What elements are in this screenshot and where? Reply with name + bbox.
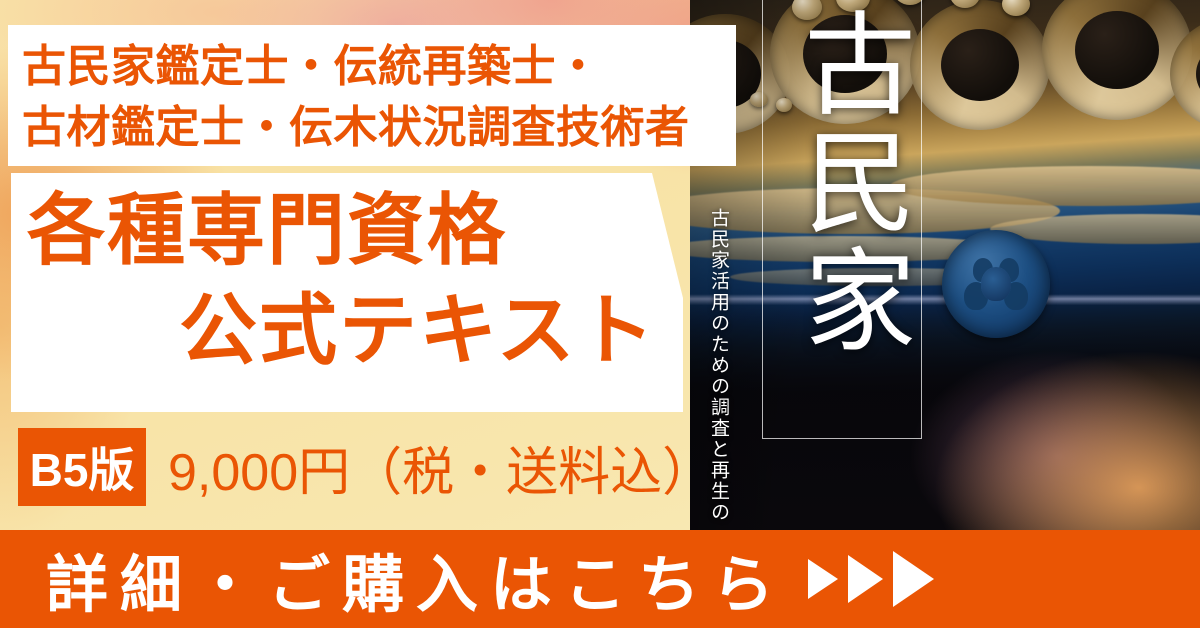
qualifications-box: 古民家鑑定士・伝統再築士・ 古材鑑定士・伝木状況調査技術者	[8, 25, 736, 166]
triangle-right-icon	[808, 559, 838, 599]
triangle-right-icon	[848, 555, 883, 603]
headline-line-1: 各種専門資格	[11, 173, 683, 269]
promo-banner: 古民家 伝統構法 古民家活用のための調査と再生の 古民家鑑定士・伝統再築士・ 古…	[0, 0, 1200, 628]
qualifications-line-2: 古材鑑定士・伝木状況調査技術者	[8, 98, 736, 159]
triangle-right-icon	[893, 551, 934, 607]
cta-bar[interactable]: 詳細・ご購入はこちら	[0, 530, 1200, 628]
qualifications-line-1: 古民家鑑定士・伝統再築士・	[8, 25, 736, 98]
headline-line-2: 公式テキスト	[11, 269, 683, 369]
cta-label: 詳細・ご購入はこちら	[0, 534, 786, 624]
cover-photo-texture: 古民家 伝統構法 古民家活用のための調査と再生の	[690, 0, 1200, 530]
book-cover-image: 古民家 伝統構法 古民家活用のための調査と再生の	[690, 0, 1200, 530]
cover-title-vertical: 古民家	[762, 6, 920, 360]
price-row: B5版 9,000円（税・送料込）	[18, 428, 714, 506]
headline-box: 各種専門資格 公式テキスト	[11, 173, 683, 412]
cta-arrows	[786, 551, 934, 607]
format-badge: B5版	[18, 428, 146, 506]
price-text: 9,000円（税・送料込）	[146, 430, 714, 505]
